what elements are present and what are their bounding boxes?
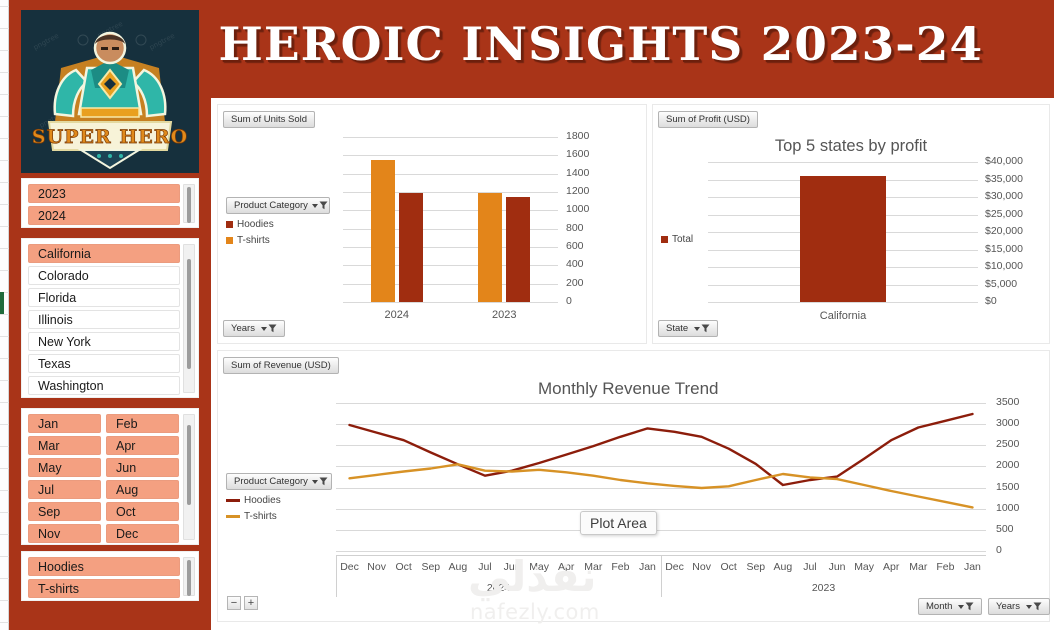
worksheet-gridline-strip [0, 0, 9, 630]
legend-swatch [226, 237, 233, 244]
field-button-label: Product Category [234, 474, 308, 490]
gridline [0, 402, 9, 403]
slicer-item[interactable]: Feb [106, 414, 179, 433]
slicer-category-scrollbar[interactable] [183, 557, 195, 596]
y-axis-tick-label: 0 [996, 544, 1002, 556]
plot-area-tooltip: Plot Area [580, 511, 657, 535]
slicer-item[interactable]: Jul [28, 480, 101, 499]
y-axis-tick-label: 800 [566, 222, 584, 234]
chart1-bars [343, 137, 558, 302]
field-button-label: Sum of Units Sold [231, 112, 307, 128]
slicer-item[interactable]: Washington [28, 376, 180, 395]
field-button-label: Month [926, 599, 952, 615]
gridline [0, 556, 9, 557]
slicer-month-items[interactable]: JanFebMarAprMayJunJulAugSepOctNovDec [28, 414, 180, 540]
x-axis-tick-label: Mar [905, 561, 932, 573]
slicer-state-items[interactable]: CaliforniaColoradoFloridaIllinoisNew Yor… [28, 244, 180, 393]
legend-item: Hoodies [226, 219, 336, 230]
y-axis-tick-label: $20,000 [985, 225, 1023, 237]
gridline [0, 446, 9, 447]
gridline [0, 94, 9, 95]
gridline [0, 6, 9, 7]
superhero-logo: pngtree pngtree pngtree pngtree pngtree [21, 10, 199, 173]
gridline [0, 248, 9, 249]
slicer-state-scrollbar[interactable] [183, 244, 195, 393]
legend-swatch [226, 499, 240, 502]
slicer-item[interactable]: T-shirts [28, 579, 180, 598]
slicer-years-items[interactable]: 20232024 [28, 184, 180, 223]
x-axis-tick-label: Feb [932, 561, 959, 573]
y-axis-tick-label: 3500 [996, 396, 1019, 408]
svg-text:SUPER HERO: SUPER HERO [32, 126, 188, 148]
slicer-item[interactable]: Mar [28, 436, 101, 455]
y-axis-tick-label: $30,000 [985, 190, 1023, 202]
gridline [0, 600, 9, 601]
slicer-item[interactable]: Nov [28, 524, 101, 543]
field-button-label: Product Category [234, 198, 308, 214]
y-axis-tick-label: 1800 [566, 130, 589, 142]
x-axis-tick-label: Jan [634, 561, 661, 573]
y-axis-tick-label: $40,000 [985, 155, 1023, 167]
chart3-lines [336, 403, 986, 551]
slicer-item[interactable]: Hoodies [28, 557, 180, 576]
gridline [0, 534, 9, 535]
y-axis-tick-label: 1600 [566, 148, 589, 160]
gridline [0, 226, 9, 227]
y-axis-tick-label: 2500 [996, 438, 1019, 450]
gridline [0, 490, 9, 491]
slicer-item[interactable]: Jan [28, 414, 101, 433]
y-axis-tick-label: 600 [566, 240, 584, 252]
slicer-item[interactable]: California [28, 244, 180, 263]
scroll-thumb[interactable] [187, 560, 191, 596]
cell-selection-marker [0, 292, 4, 314]
bar [399, 193, 423, 302]
dashboard-root: pngtree pngtree pngtree pngtree pngtree [0, 0, 1054, 630]
bar [506, 197, 530, 302]
chart3-title: Monthly Revenue Trend [538, 379, 719, 399]
y-axis-tick-label: $10,000 [985, 260, 1023, 272]
scroll-thumb[interactable] [187, 259, 191, 369]
x-axis-tick-label: Jun [824, 561, 851, 573]
slicer-item[interactable]: Texas [28, 354, 180, 373]
chart1-legend: Product Category HoodiesT-shirts [226, 197, 336, 246]
gridline [0, 72, 9, 73]
legend-swatch [226, 221, 233, 228]
x-axis-tick-label: Dec [336, 561, 363, 573]
field-button-legend-category[interactable]: Product Category [226, 197, 330, 214]
line-series [350, 414, 973, 485]
chart-card-monthly-revenue: Sum of Revenue (USD) Monthly Revenue Tre… [217, 350, 1050, 622]
legend-swatch [226, 515, 240, 518]
x-axis-tick-label: Sep [417, 561, 444, 573]
x-axis-tick-label: Oct [390, 561, 417, 573]
filter-icon [312, 201, 328, 210]
field-button-axis-years[interactable]: Years [223, 320, 285, 337]
y-axis-tick-label: $0 [985, 295, 997, 307]
collapse-field-button[interactable]: − [227, 596, 241, 610]
legend-label: Hoodies [244, 495, 281, 506]
chart2-legend: Total [661, 229, 693, 245]
slicer-years[interactable]: 20232024 [21, 178, 199, 228]
y-axis-tick-label: 1000 [566, 203, 589, 215]
x-axis-tick-label: Apr [553, 561, 580, 573]
slicer-item[interactable]: Apr [106, 436, 179, 455]
filter-icon [312, 477, 328, 486]
field-button-years[interactable]: Years [988, 598, 1050, 615]
gridline [0, 424, 9, 425]
gridline [0, 314, 9, 315]
filter-icon [1026, 602, 1042, 611]
slicer-month[interactable]: JanFebMarAprMayJunJulAugSepOctNovDec [21, 408, 199, 545]
bar [800, 176, 886, 302]
gridline [0, 138, 9, 139]
field-button-axis-state[interactable]: State [658, 320, 718, 337]
filter-icon [261, 324, 277, 333]
legend-item: Total [661, 234, 693, 245]
page-title: HEROIC INSIGHTS 2023-24 [219, 17, 984, 71]
field-button-label: Sum of Profit (USD) [666, 112, 750, 128]
axis-separator [336, 555, 337, 597]
x-axis-tick-label: Jul [796, 561, 823, 573]
slicer-month-scrollbar[interactable] [183, 414, 195, 540]
expand-field-button[interactable]: + [244, 596, 258, 610]
slicer-item[interactable]: Aug [106, 480, 179, 499]
slicer-item[interactable]: Dec [106, 524, 179, 543]
x-axis-tick-label: Mar [580, 561, 607, 573]
x-axis-group-label: 2023 [661, 582, 986, 594]
chart3-legend: Product Category HoodiesT-shirts [226, 473, 338, 522]
dashboard-header: HEROIC INSIGHTS 2023-24 [211, 0, 1054, 98]
y-axis-tick-label: 500 [996, 523, 1014, 535]
legend-items: HoodiesT-shirts [226, 495, 338, 522]
gridline [0, 182, 9, 183]
x-axis-tick-label: Jun [499, 561, 526, 573]
gridline [0, 578, 9, 579]
field-button-value-revenue[interactable]: Sum of Revenue (USD) [223, 357, 339, 374]
slicer-years-scrollbar[interactable] [183, 184, 195, 223]
slicer-state[interactable]: CaliforniaColoradoFloridaIllinoisNew Yor… [21, 238, 199, 398]
legend-items: HoodiesT-shirts [226, 219, 336, 246]
gridline [343, 302, 558, 303]
gridline [0, 116, 9, 117]
y-axis-tick-label: $15,000 [985, 243, 1023, 255]
gridline [0, 468, 9, 469]
bar [371, 160, 395, 302]
slicer-item[interactable]: Florida [28, 288, 180, 307]
line-series [350, 464, 973, 507]
chart2-title: Top 5 states by profit [653, 137, 1049, 156]
chart-card-top-states: Sum of Profit (USD) Top 5 states by prof… [652, 104, 1050, 344]
scroll-thumb[interactable] [187, 425, 191, 505]
legend-label: Total [672, 234, 693, 245]
gridline [0, 204, 9, 205]
y-axis-tick-label: 200 [566, 277, 584, 289]
slicer-item[interactable]: Sep [28, 502, 101, 521]
x-axis-tick-label: California [708, 310, 978, 322]
slicer-item[interactable]: 2023 [28, 184, 180, 203]
chart-card-units-sold: Sum of Units Sold Product Category Hoodi… [217, 104, 647, 344]
x-axis-tick-label: Nov [688, 561, 715, 573]
gridline [0, 622, 9, 623]
y-axis-tick-label: 2000 [996, 459, 1019, 471]
y-axis-tick-label: 1200 [566, 185, 589, 197]
slicer-item[interactable]: New York [28, 332, 180, 351]
x-axis-tick-label: Aug [444, 561, 471, 573]
filter-icon [958, 602, 974, 611]
scroll-thumb[interactable] [187, 187, 191, 223]
gridline [0, 512, 9, 513]
field-button-legend-category[interactable]: Product Category [226, 473, 332, 490]
y-axis-tick-label: 1500 [996, 481, 1019, 493]
x-axis-tick-label: Aug [769, 561, 796, 573]
chart2-bars [708, 162, 978, 302]
gridline [0, 336, 9, 337]
x-axis-tick-label: Feb [607, 561, 634, 573]
y-axis-tick-label: $5,000 [985, 278, 1017, 290]
gridline [0, 50, 9, 51]
slicer-item[interactable]: Oct [106, 502, 179, 521]
y-axis-tick-label: 1000 [996, 502, 1019, 514]
slicer-category-items[interactable]: HoodiesT-shirts [28, 557, 180, 596]
field-button-label: Sum of Revenue (USD) [231, 358, 331, 374]
slicer-item[interactable]: Colorado [28, 266, 180, 285]
legend-item: Hoodies [226, 495, 338, 506]
x-axis-group-label: 2024 [336, 582, 661, 594]
x-axis-tick-label: 2024 [343, 309, 451, 321]
x-axis-tick-label: Jul [471, 561, 498, 573]
x-axis-tick-label: May [526, 561, 553, 573]
field-button-value-units[interactable]: Sum of Units Sold [223, 111, 315, 128]
field-button-label: State [666, 321, 688, 337]
gridline [0, 160, 9, 161]
legend-swatch [661, 236, 668, 243]
y-axis-tick-label: 0 [566, 295, 572, 307]
field-button-month[interactable]: Month [918, 598, 982, 615]
legend-label: T-shirts [244, 511, 277, 522]
x-axis-tick-label: Jan [959, 561, 986, 573]
y-axis-tick-label: 3000 [996, 417, 1019, 429]
x-axis-tick-label: May [851, 561, 878, 573]
y-axis-tick-label: $25,000 [985, 208, 1023, 220]
slicer-item[interactable]: Illinois [28, 310, 180, 329]
x-axis-tick-label: Dec [661, 561, 688, 573]
x-axis-tick-label: Apr [878, 561, 905, 573]
legend-item: T-shirts [226, 235, 336, 246]
gridline [708, 302, 978, 303]
slicer-item[interactable]: 2024 [28, 206, 180, 225]
slicer-item[interactable]: Jun [106, 458, 179, 477]
legend-item: T-shirts [226, 511, 338, 522]
slicer-item[interactable]: May [28, 458, 101, 477]
legend-label: Hoodies [237, 219, 274, 230]
gridline [336, 551, 986, 552]
x-axis-tick-label: Sep [742, 561, 769, 573]
axis-line [336, 555, 986, 556]
y-axis-tick-label: 400 [566, 258, 584, 270]
field-button-label: Years [231, 321, 255, 337]
gridline [0, 358, 9, 359]
bar [478, 193, 502, 302]
x-axis-tick-label: Oct [715, 561, 742, 573]
field-button-label: Years [996, 599, 1020, 615]
slicer-product-category[interactable]: HoodiesT-shirts [21, 551, 199, 601]
y-axis-tick-label: $35,000 [985, 173, 1023, 185]
x-axis-tick-label: 2023 [451, 309, 559, 321]
gridline [0, 28, 9, 29]
slicer-panel: pngtree pngtree pngtree pngtree pngtree [9, 0, 211, 630]
gridline [0, 380, 9, 381]
gridline [0, 270, 9, 271]
field-button-value-profit[interactable]: Sum of Profit (USD) [658, 111, 758, 128]
filter-icon [694, 324, 710, 333]
x-axis-tick-label: Nov [363, 561, 390, 573]
y-axis-tick-label: 1400 [566, 167, 589, 179]
legend-label: T-shirts [237, 235, 270, 246]
